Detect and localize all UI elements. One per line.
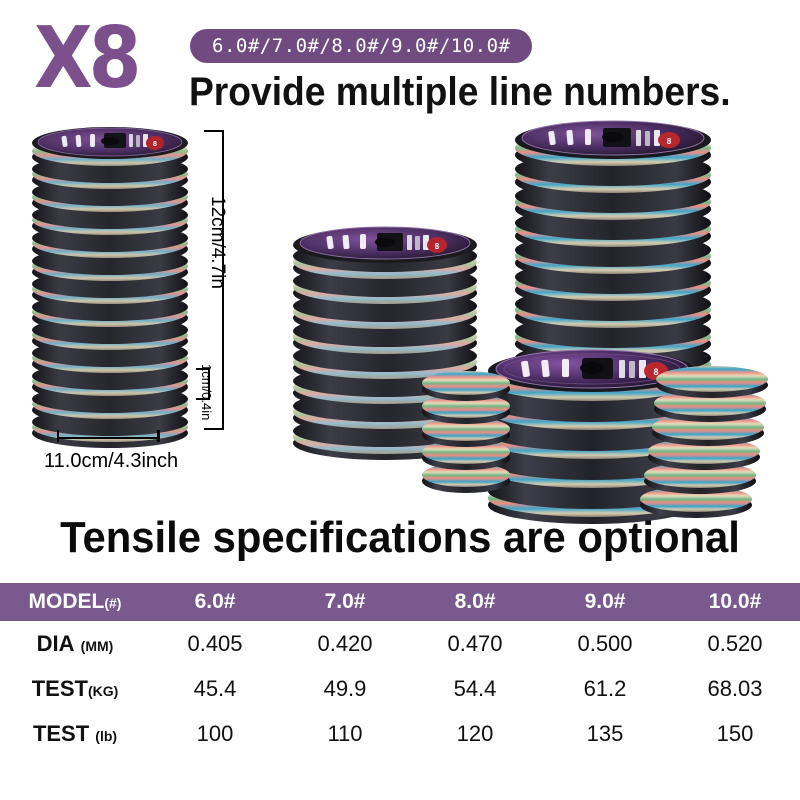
cell-test-lb-0: 100 bbox=[150, 711, 280, 756]
cell-dia-2: 0.470 bbox=[410, 621, 540, 666]
svg-text:8: 8 bbox=[653, 367, 658, 377]
model-numbers-badge: 6.0#/7.0#/8.0#/9.0#/10.0# bbox=[190, 29, 532, 63]
table-row: TEST(KG) 45.4 49.9 54.4 61.2 68.03 bbox=[0, 666, 800, 711]
cell-test-lb-2: 120 bbox=[410, 711, 540, 756]
table-header-col-1: 7.0# bbox=[280, 583, 410, 621]
section-heading: Tensile specifications are optional bbox=[24, 513, 776, 563]
table-header-col-4: 10.0# bbox=[670, 583, 800, 621]
dim-width-bracket-horizontal bbox=[57, 437, 159, 439]
cell-dia-4: 0.520 bbox=[670, 621, 800, 666]
cell-test-lb-3: 135 bbox=[540, 711, 670, 756]
table-header-row: MODEL(#) 6.0# 7.0# 8.0# 9.0# 10.0# bbox=[0, 583, 800, 621]
spool-stack-left: 8 bbox=[18, 105, 218, 445]
table-header-col-3: 9.0# bbox=[540, 583, 670, 621]
header: X8 6.0#/7.0#/8.0#/9.0#/10.0# Provide mul… bbox=[0, 0, 800, 120]
dim-width-bracket-left-tick bbox=[57, 430, 59, 442]
cell-test-kg-2: 54.4 bbox=[410, 666, 540, 711]
table-row: TEST (lb) 100 110 120 135 150 bbox=[0, 711, 800, 756]
table-header-model-unit: (#) bbox=[104, 595, 121, 611]
model-numbers-badge-label: 6.0#/7.0#/8.0#/9.0#/10.0# bbox=[212, 35, 510, 57]
table-row: DIA (MM) 0.405 0.420 0.470 0.500 0.520 bbox=[0, 621, 800, 666]
spool-stack-left-edge-partial-graphic bbox=[462, 361, 522, 491]
spool-stack-left-edge-partial bbox=[462, 361, 522, 491]
svg-text:8: 8 bbox=[153, 141, 157, 148]
dim-single-spool-label: 1cm/0.4in bbox=[199, 364, 214, 420]
table-header-col-0: 6.0# bbox=[150, 583, 280, 621]
row-label-test-kg-text: TEST bbox=[32, 676, 88, 701]
svg-text:8: 8 bbox=[667, 137, 672, 146]
cell-test-lb-1: 110 bbox=[280, 711, 410, 756]
dim-width-label: 11.0cm/4.3inch bbox=[44, 450, 178, 473]
row-label-dia-text: DIA bbox=[37, 631, 75, 656]
row-label-test-kg-unit: (KG) bbox=[88, 683, 118, 699]
row-label-dia-unit: (MM) bbox=[81, 638, 114, 654]
cell-test-kg-0: 45.4 bbox=[150, 666, 280, 711]
table-header-model-label: MODEL bbox=[29, 590, 105, 613]
table-header: MODEL(#) 6.0# 7.0# 8.0# 9.0# 10.0# bbox=[0, 583, 800, 621]
cell-test-kg-1: 49.9 bbox=[280, 666, 410, 711]
specifications-table: MODEL(#) 6.0# 7.0# 8.0# 9.0# 10.0# DIA (… bbox=[0, 583, 800, 756]
cell-test-kg-3: 61.2 bbox=[540, 666, 670, 711]
cell-dia-0: 0.405 bbox=[150, 621, 280, 666]
table-header-col-2: 8.0# bbox=[410, 583, 540, 621]
spool-stack-right-edge-graphic bbox=[676, 355, 796, 515]
dim-height-bracket-top-tick bbox=[204, 130, 224, 132]
spool-stack-right-edge bbox=[676, 355, 796, 515]
dim-width-bracket-right-tick bbox=[157, 430, 160, 442]
row-label-dia: DIA (MM) bbox=[0, 621, 150, 666]
row-label-test-kg: TEST(KG) bbox=[0, 666, 150, 711]
cell-test-kg-4: 68.03 bbox=[670, 666, 800, 711]
row-label-test-lb-unit: (lb) bbox=[95, 728, 117, 744]
cell-dia-3: 0.500 bbox=[540, 621, 670, 666]
spool-stack-left-graphic: 8 bbox=[18, 105, 218, 445]
row-label-test-lb-text: TEST bbox=[33, 721, 89, 746]
svg-text:8: 8 bbox=[435, 242, 440, 251]
dim-height-bracket-bottom-tick bbox=[204, 428, 224, 430]
brand-logo-x8: X8 bbox=[34, 14, 137, 101]
dim-height-label: 12cm/4.7in bbox=[206, 196, 228, 289]
table-header-model: MODEL(#) bbox=[0, 583, 150, 621]
cell-test-lb-4: 150 bbox=[670, 711, 800, 756]
cell-dia-1: 0.420 bbox=[280, 621, 410, 666]
table-body: DIA (MM) 0.405 0.420 0.470 0.500 0.520 T… bbox=[0, 621, 800, 756]
row-label-test-lb: TEST (lb) bbox=[0, 711, 150, 756]
